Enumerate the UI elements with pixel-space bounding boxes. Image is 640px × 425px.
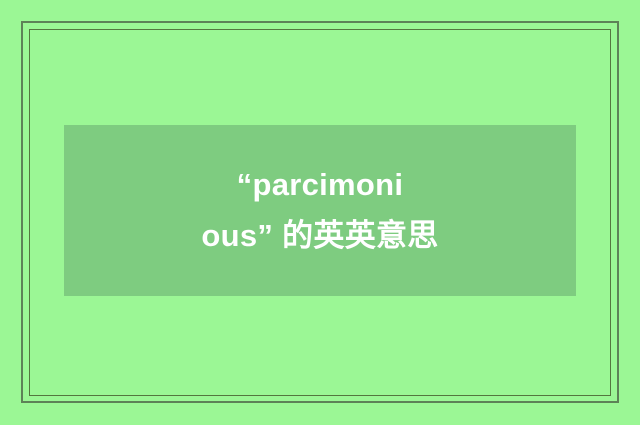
- headline-card: “parcimoni ous” 的英英意思: [64, 125, 576, 296]
- page-title: “parcimoni ous” 的英英意思: [191, 160, 448, 260]
- poster-canvas: “parcimoni ous” 的英英意思: [0, 0, 640, 425]
